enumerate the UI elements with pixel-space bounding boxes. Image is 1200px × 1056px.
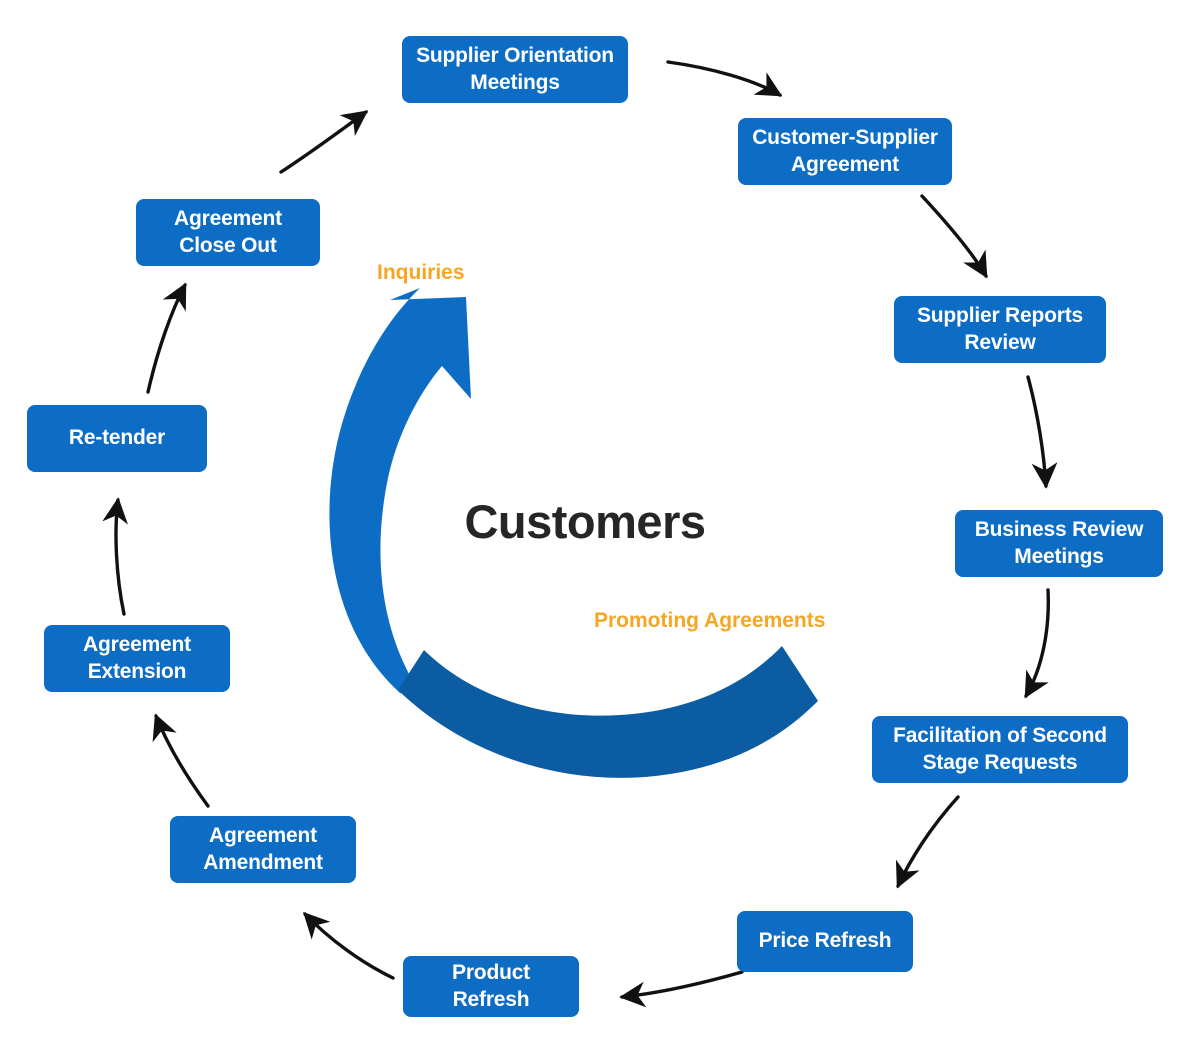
connector-re-tender-to-close-out — [148, 285, 185, 392]
connector-price-refresh-to-product-refresh — [622, 972, 742, 997]
node-supplier-reports-review[interactable]: Supplier Reports Review — [894, 296, 1106, 363]
flow-label-inquiries: Inquiries — [377, 261, 465, 285]
inquiries-flow-arrow — [329, 288, 471, 700]
node-re-tender[interactable]: Re-tender — [27, 405, 207, 472]
connector-facilitation-to-price-refresh — [898, 797, 958, 886]
connector-product-refresh-to-amendment — [305, 914, 393, 978]
connector-amendment-to-extension — [156, 716, 208, 806]
node-customer-supplier-agreement[interactable]: Customer-Supplier Agreement — [738, 118, 952, 185]
node-agreement-close-out[interactable]: Agreement Close Out — [136, 199, 320, 266]
connector-orientation-to-agreement — [668, 62, 780, 95]
promoting-agreements-flow-band — [398, 646, 818, 778]
connector-business-review-to-facilitation — [1026, 590, 1048, 696]
node-agreement-extension[interactable]: Agreement Extension — [44, 625, 230, 692]
flow-label-promoting-agreements: Promoting Agreements — [594, 609, 825, 633]
center-title-customers: Customers — [460, 494, 710, 549]
connector-reports-to-business-review — [1028, 377, 1046, 486]
node-product-refresh[interactable]: Product Refresh — [403, 956, 579, 1017]
node-business-review-meetings[interactable]: Business Review Meetings — [955, 510, 1163, 577]
node-facilitation-of-second-stage-requests[interactable]: Facilitation of Second Stage Requests — [872, 716, 1128, 783]
node-agreement-amendment[interactable]: Agreement Amendment — [170, 816, 356, 883]
connector-agreement-to-reports — [922, 196, 986, 276]
diagram-canvas: Supplier Orientation Meetings Customer-S… — [0, 0, 1200, 1056]
connector-close-out-to-orientation — [281, 112, 366, 172]
connector-extension-to-re-tender — [116, 500, 124, 614]
node-price-refresh[interactable]: Price Refresh — [737, 911, 913, 972]
node-supplier-orientation-meetings[interactable]: Supplier Orientation Meetings — [402, 36, 628, 103]
